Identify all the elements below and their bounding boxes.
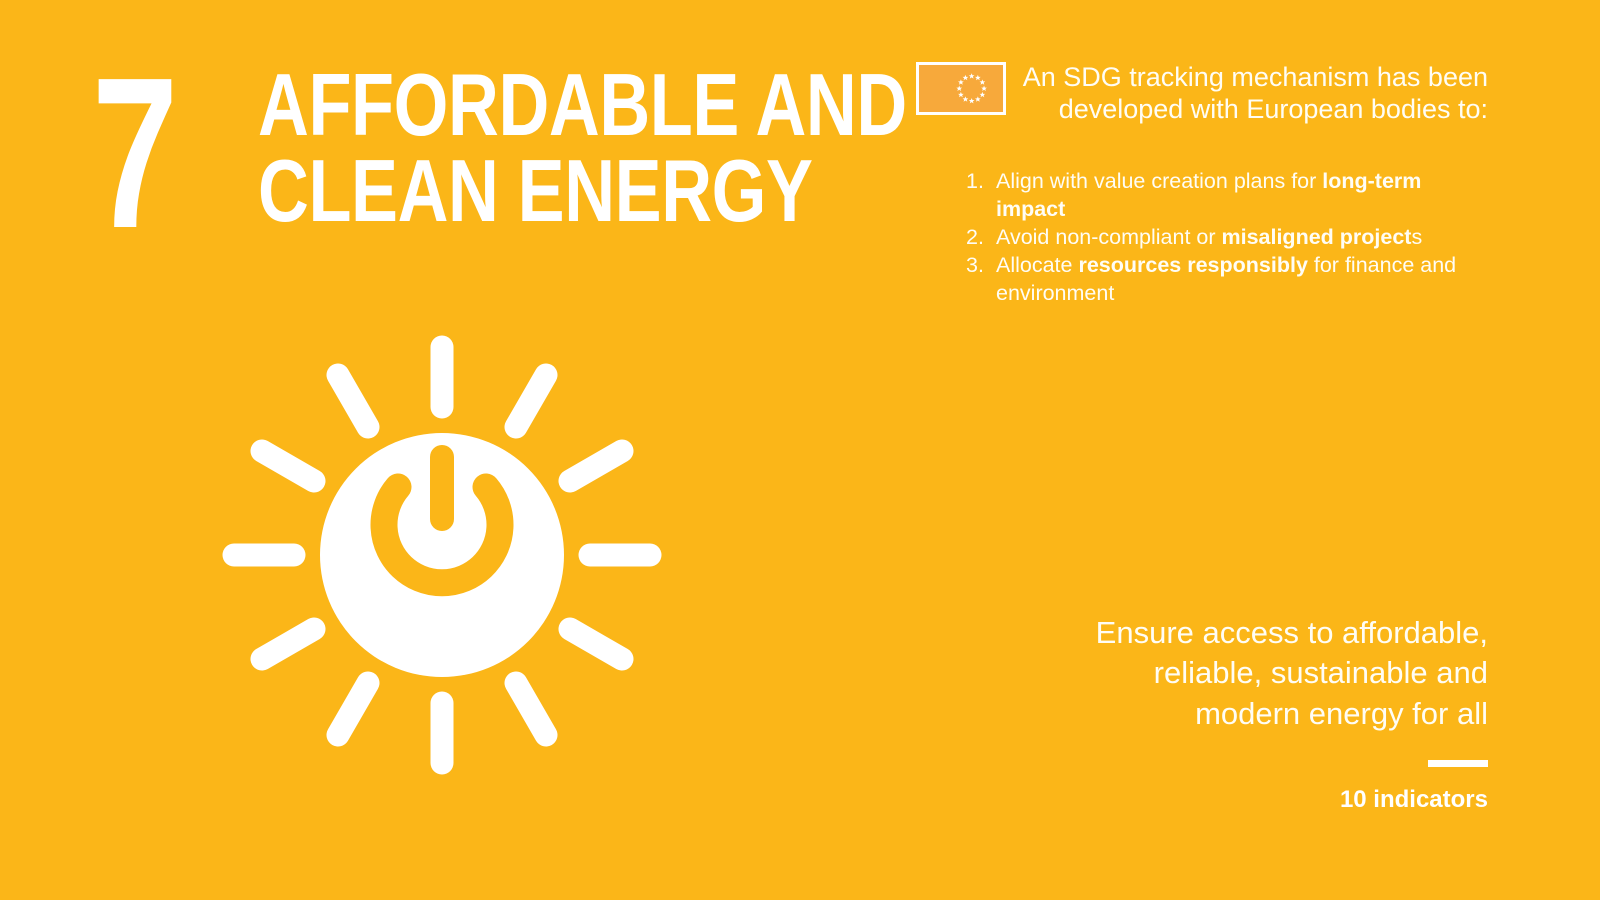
list-item-text: Align with value creation plans for long… <box>996 168 1494 224</box>
list-item-number: 1. <box>966 168 996 196</box>
page-title: AFFORDABLE AND CLEAN ENERGY <box>258 62 706 234</box>
goal-title-line-2: CLEAN ENERGY <box>258 148 706 234</box>
sun-power-icon <box>202 315 682 795</box>
header-line-2: developed with European bodies to: <box>1018 94 1488 126</box>
header-text: An SDG tracking mechanism has been devel… <box>1018 62 1488 126</box>
mission-line-2: reliable, sustainable and <box>1036 653 1488 693</box>
list-item-number: 3. <box>966 252 996 280</box>
goal-number: 7 <box>92 45 175 260</box>
divider-bar <box>1428 760 1488 767</box>
sdg-goal-7-slide: 7 AFFORDABLE AND CLEAN ENERGY <box>0 0 1600 900</box>
mission-line-3: modern energy for all <box>1036 694 1488 734</box>
eu-flag-icon <box>916 62 1006 115</box>
list-item-text: Allocate resources responsibly for finan… <box>996 252 1494 308</box>
indicator-count-label: 10 indicators <box>1340 786 1488 814</box>
points-list: 1.Align with value creation plans for lo… <box>966 168 1494 308</box>
mission-line-1: Ensure access to affordable, <box>1036 613 1488 653</box>
list-item-number: 2. <box>966 224 996 252</box>
list-item: 1.Align with value creation plans for lo… <box>966 168 1494 224</box>
mission-statement: Ensure access to affordable, reliable, s… <box>1036 613 1488 734</box>
list-item-text: Avoid non-compliant or misaligned projec… <box>996 224 1494 252</box>
list-item: 2.Avoid non-compliant or misaligned proj… <box>966 224 1494 252</box>
header-line-1: An SDG tracking mechanism has been <box>1018 62 1488 94</box>
goal-title-line-1: AFFORDABLE AND <box>258 62 706 148</box>
list-item: 3.Allocate resources responsibly for fin… <box>966 252 1494 308</box>
